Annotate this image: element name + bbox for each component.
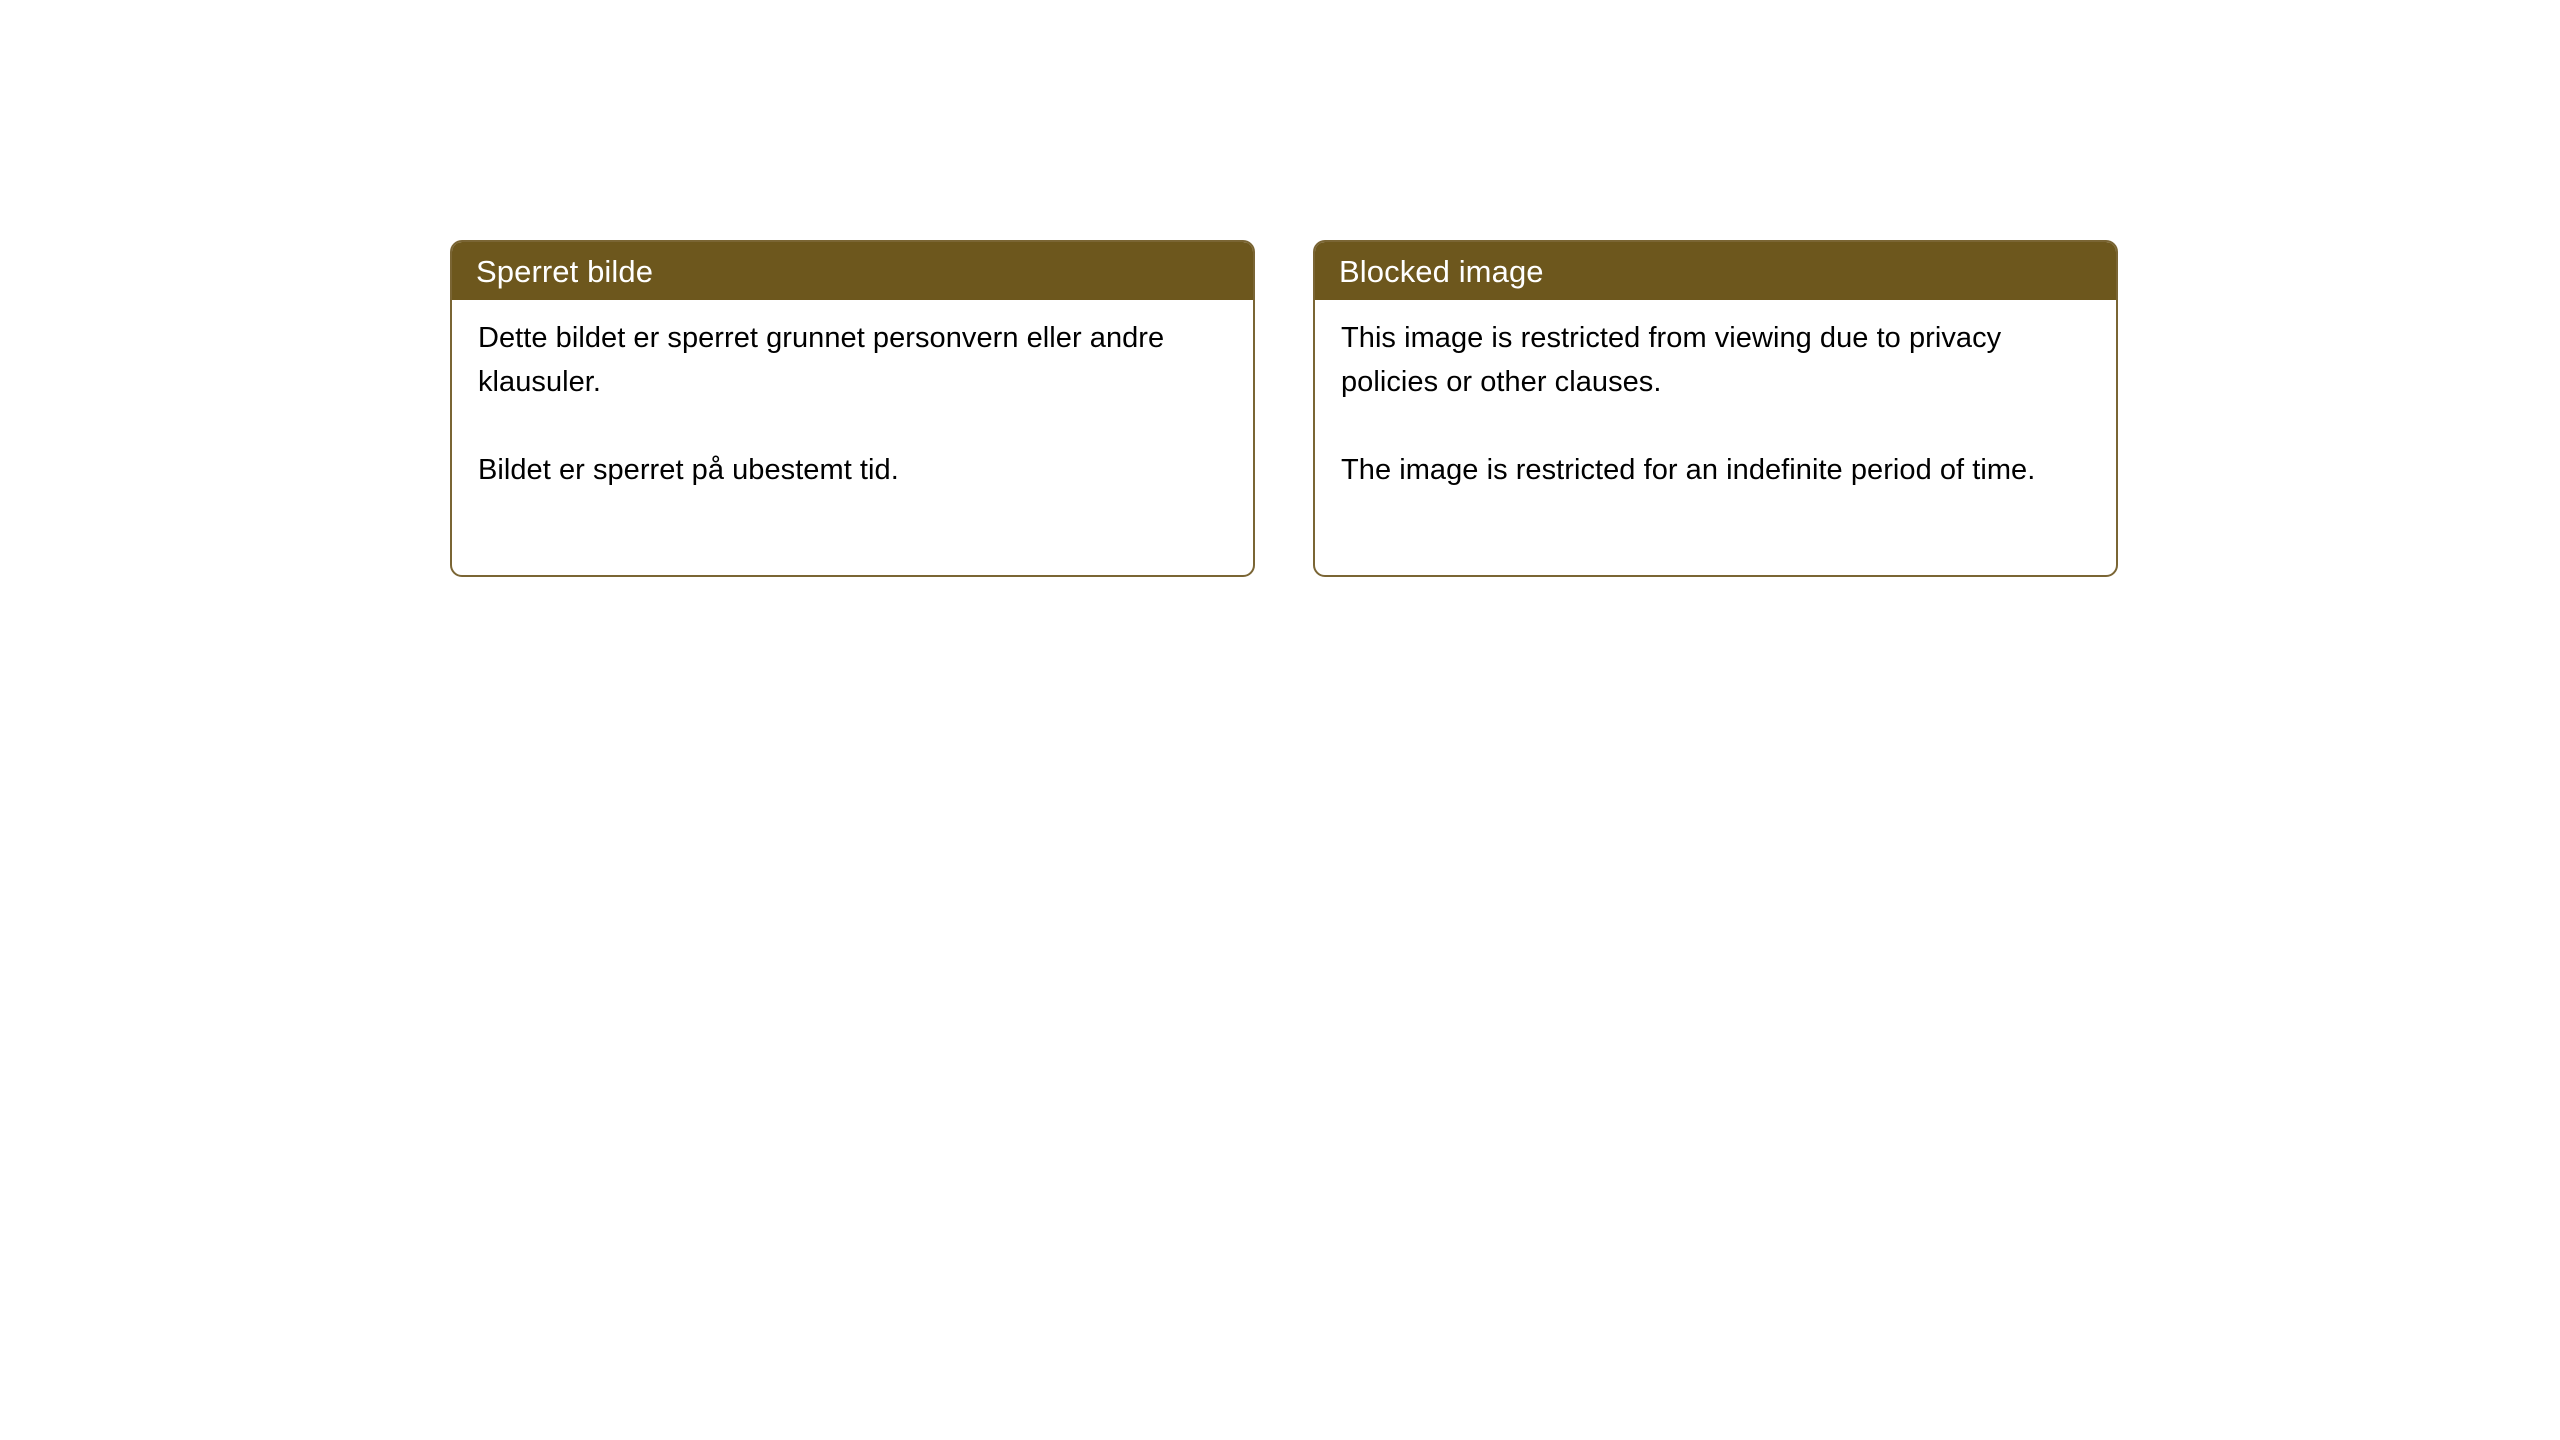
card-paragraph-reason-english: This image is restricted from viewing du… — [1341, 316, 2090, 404]
card-body-english: This image is restricted from viewing du… — [1315, 300, 2116, 492]
card-title-norwegian: Sperret bilde — [476, 256, 653, 287]
card-body-norwegian: Dette bildet er sperret grunnet personve… — [452, 300, 1253, 492]
card-paragraph-duration-norwegian: Bildet er sperret på ubestemt tid. — [478, 448, 1227, 492]
page-root: Sperret bilde Dette bildet er sperret gr… — [0, 0, 2560, 1440]
paragraph-spacer — [478, 404, 1227, 448]
card-title-english: Blocked image — [1339, 256, 1544, 287]
card-header-norwegian: Sperret bilde — [452, 242, 1253, 300]
blocked-image-notice-card-norwegian: Sperret bilde Dette bildet er sperret gr… — [450, 240, 1255, 577]
card-paragraph-duration-english: The image is restricted for an indefinit… — [1341, 448, 2090, 492]
card-header-english: Blocked image — [1315, 242, 2116, 300]
paragraph-spacer — [1341, 404, 2090, 448]
blocked-image-notice-card-english: Blocked image This image is restricted f… — [1313, 240, 2118, 577]
card-paragraph-reason-norwegian: Dette bildet er sperret grunnet personve… — [478, 316, 1227, 404]
